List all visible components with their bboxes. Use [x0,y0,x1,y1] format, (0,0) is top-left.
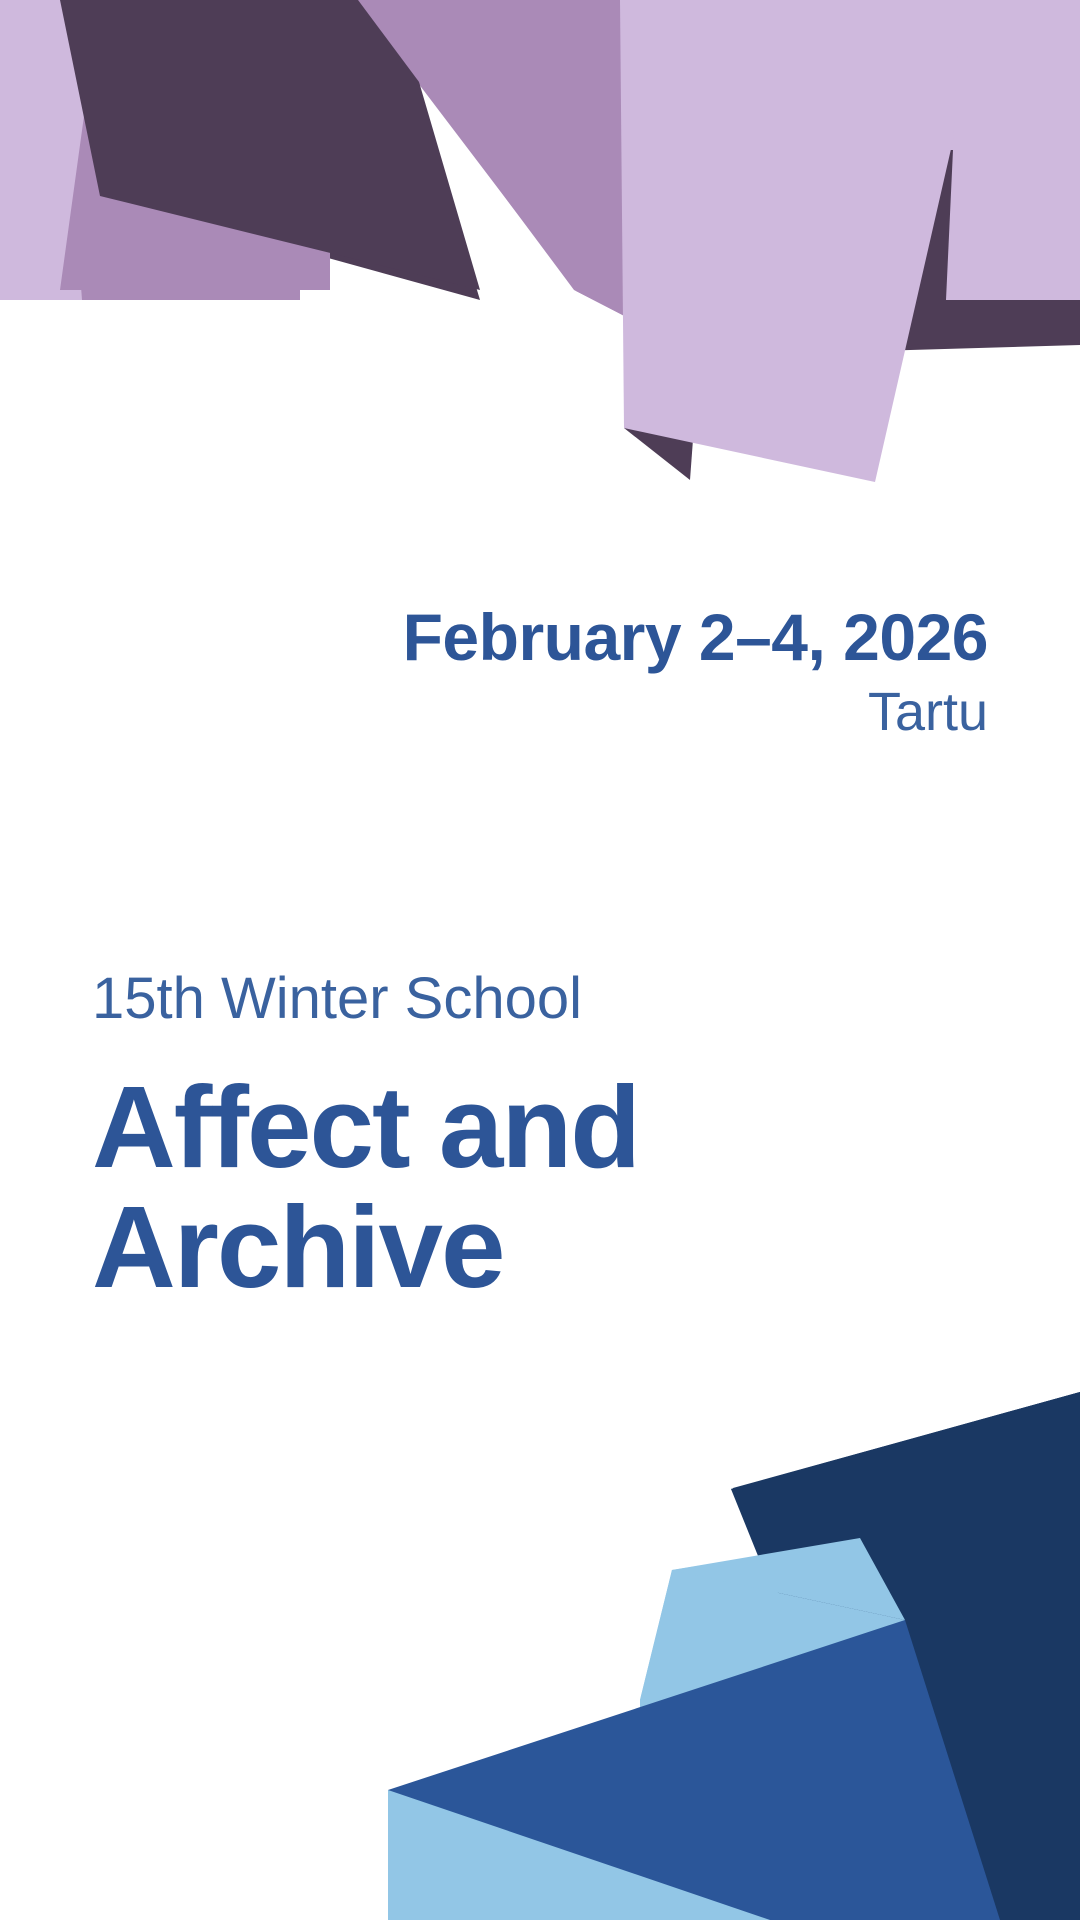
event-eyebrow: 15th Winter School [92,968,972,1031]
poster-text-layer: February 2–4, 2026 Tartu 15th Winter Sch… [0,0,1080,1920]
date-block: February 2–4, 2026 Tartu [88,604,988,747]
event-city: Tartu [88,679,988,747]
event-date: February 2–4, 2026 [88,604,988,671]
page-title: Affect and Archive [92,1067,852,1308]
title-block: 15th Winter School Affect and Archive [92,968,972,1308]
poster-canvas: February 2–4, 2026 Tartu 15th Winter Sch… [0,0,1080,1920]
